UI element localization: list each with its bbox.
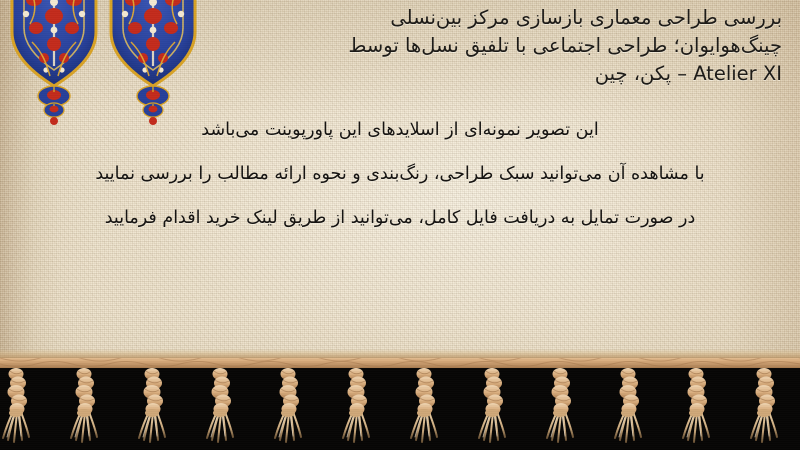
tassel-fringe-icon: [0, 358, 800, 450]
carpet-tassel-fringe: [0, 358, 800, 450]
title-line-1: بررسی طراحی معماری بازسازی مرکز بین‌نسلی: [210, 4, 782, 32]
body-line-1: این تصویر نمونه‌ای از اسلایدهای این پاور…: [18, 108, 782, 152]
slide-body: این تصویر نمونه‌ای از اسلایدهای این پاور…: [18, 108, 782, 240]
body-line-3: در صورت تمایل به دریافت فایل کامل، می‌تو…: [18, 196, 782, 240]
title-line-2: چینگ‌هوایوان؛ طراحی اجتماعی با تلفیق نسل…: [210, 32, 782, 60]
title-line-3: Atelier XI – پکن، چین: [210, 60, 782, 88]
body-line-2: با مشاهده آن می‌توانید سبک طراحی، رنگ‌بن…: [18, 152, 782, 196]
fringe-seam: [0, 349, 800, 358]
slide-title: بررسی طراحی معماری بازسازی مرکز بین‌نسلی…: [210, 4, 782, 88]
slide-canvas: بررسی طراحی معماری بازسازی مرکز بین‌نسلی…: [0, 0, 800, 450]
